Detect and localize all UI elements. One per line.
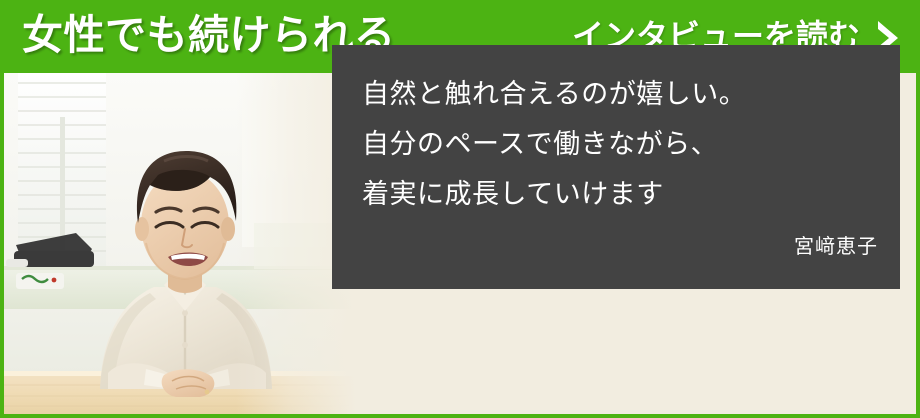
quote-text: 自然と触れ合えるのが嬉しい。 自分のペースで働きながら、 着実に成長していけます — [362, 69, 872, 219]
interview-photo-image — [4, 73, 356, 414]
quote-line-2: 自分のペースで働きながら、 — [362, 119, 872, 169]
interview-photo — [4, 73, 356, 414]
quote-card: 自然と触れ合えるのが嬉しい。 自分のペースで働きながら、 着実に成長していけます… — [332, 45, 900, 289]
quote-line-3: 着実に成長していけます — [362, 169, 872, 219]
quote-line-1: 自然と触れ合えるのが嬉しい。 — [362, 69, 872, 119]
quote-author: 宮﨑恵子 — [794, 230, 878, 259]
interview-banner: 女性でも続けられる インタビューを読む — [0, 0, 920, 418]
